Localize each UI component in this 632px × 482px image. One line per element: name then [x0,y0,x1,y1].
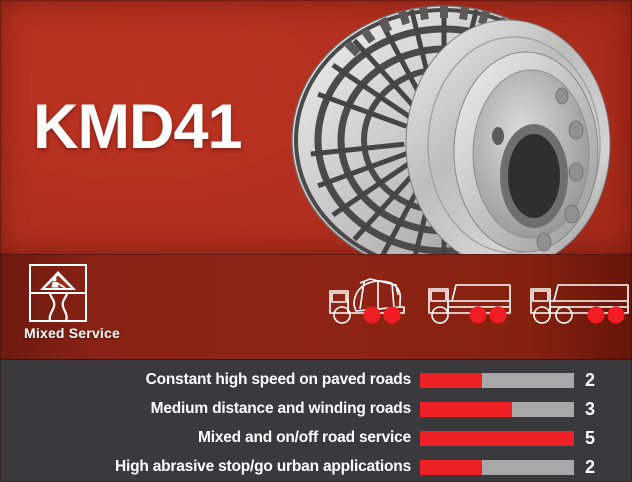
rating-bar-fill [420,402,512,417]
table-row: Constant high speed on paved roads 2 [0,366,632,394]
rating-bar-fill [420,431,574,446]
rating-value: 2 [574,457,595,478]
rating-value: 5 [574,428,595,449]
dump-truck-icon [426,271,518,334]
rating-label: Constant high speed on paved roads [0,371,420,389]
mixed-service-label: Mixed Service [24,325,144,341]
rating-bar [420,402,574,417]
mixed-service-icon [28,263,88,323]
table-row: Mixed and on/off road service 5 [0,424,632,452]
page-title: KMD41 [33,96,242,159]
rating-bar [420,431,574,446]
rating-bar-fill [420,373,482,388]
mixed-service-badge: Mixed Service [24,263,144,341]
rating-bar-fill [420,460,482,475]
cement-mixer-truck-icon [326,271,416,334]
rating-bar [420,373,574,388]
table-row: High abrasive stop/go urban applications… [0,453,632,481]
truck-icon-group [326,271,632,334]
ratings-table: Constant high speed on paved roads 2 Med… [0,359,632,482]
rating-bar [420,460,574,475]
rating-label: Mixed and on/off road service [0,429,420,447]
rating-label: High abrasive stop/go urban applications [0,458,420,476]
rating-label: Medium distance and winding roads [0,400,420,418]
tipper-truck-icon [528,271,632,334]
rating-value: 2 [574,370,595,391]
tire-image: KMD41 315/80R22.5 [276,4,632,270]
mid-band: Mixed Service [0,254,632,360]
table-row: Medium distance and winding roads 3 [0,395,632,423]
product-poster: KMD41 [0,0,632,482]
rating-value: 3 [574,399,595,420]
